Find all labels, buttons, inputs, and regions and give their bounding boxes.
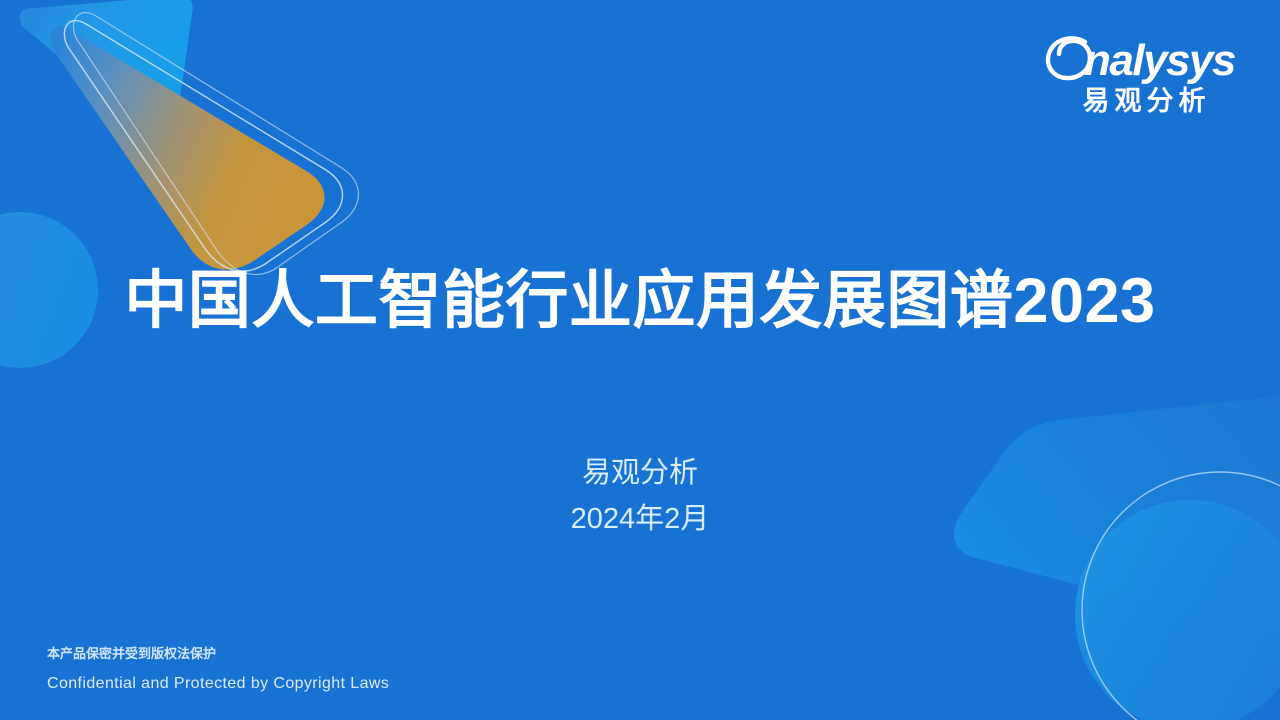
analysys-wordmark: nalysys: [1044, 34, 1244, 84]
decor-triangle-cyan: [20, 0, 197, 138]
decor-triangle-outline: [64, 13, 358, 275]
page-title: 中国人工智能行业应用发展图谱2023: [0, 268, 1280, 334]
footer-chinese: 本产品保密并受到版权法保护: [47, 647, 389, 660]
footer-english: Confidential and Protected by Copyright …: [47, 676, 389, 692]
footer-copyright: 本产品保密并受到版权法保护 Confidential and Protected…: [47, 647, 389, 692]
decor-triangle-gold: [51, 27, 325, 273]
analysys-wordmark-text: nalysys: [1084, 36, 1235, 85]
subtitle-author: 易观分析: [0, 450, 1280, 496]
logo-chinese-text: 易观分析: [1044, 86, 1244, 117]
analysys-logo-icon: nalysys: [1044, 33, 1240, 85]
subtitle-date: 2024年2月: [0, 496, 1280, 542]
slide-cover: nalysys 易观分析 中国人工智能行业应用发展图谱2023 易观分析 202…: [0, 0, 1280, 720]
subtitle-block: 易观分析 2024年2月: [0, 450, 1280, 542]
brand-logo: nalysys 易观分析: [1044, 34, 1244, 117]
